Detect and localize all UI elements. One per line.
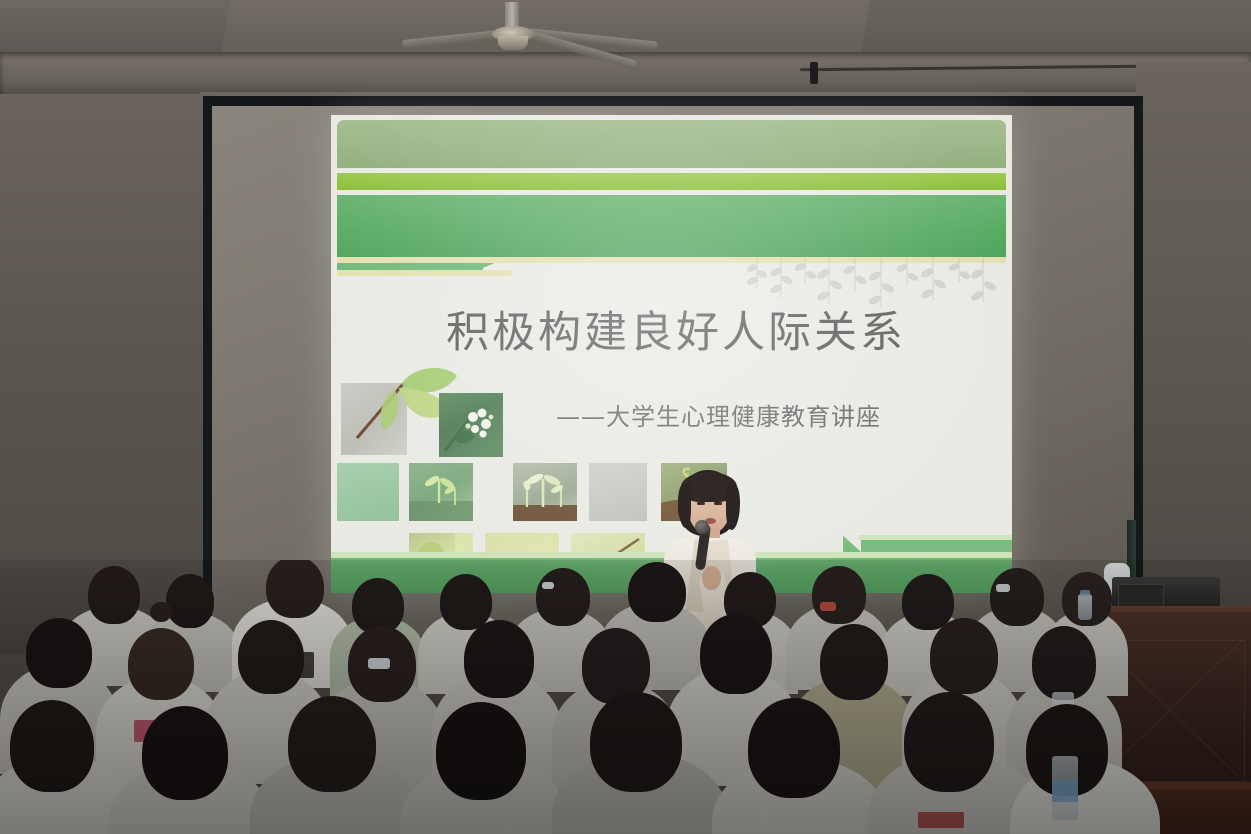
- audience-member: [590, 692, 682, 792]
- presenter-eye-left: [697, 502, 705, 505]
- hair-clip: [542, 582, 554, 589]
- footer-step-light-edge: [859, 535, 1012, 540]
- presenter-hair-side-left: [678, 484, 691, 528]
- hair-clip: [368, 658, 390, 669]
- slide-photo-sprouts-in-soil: [513, 463, 577, 521]
- audience: [0, 560, 1251, 834]
- audience-member: [266, 560, 324, 618]
- audience-member: [930, 618, 998, 694]
- presenter-hair-side-right: [726, 484, 740, 530]
- header-band-top: [337, 120, 1006, 168]
- water-bottle: [1078, 594, 1092, 620]
- ceiling-fan-motor: [498, 36, 528, 50]
- header-band-stripe: [337, 173, 1006, 190]
- audience-member: [166, 574, 214, 628]
- audience-member: [238, 620, 304, 694]
- slide-photo-white-flowers: [439, 393, 503, 457]
- audience-member: [812, 566, 866, 624]
- seedling-illustration-icon: [409, 463, 473, 521]
- audience-member: [464, 620, 534, 698]
- lecture-hall-scene: 积极构建良好人际关系 ——大学生心理健康教育讲座: [0, 0, 1251, 834]
- header-band-main: [337, 195, 1006, 257]
- audience-member: [288, 696, 376, 792]
- audience-member: [700, 614, 772, 694]
- slide-header: [337, 120, 1006, 260]
- slide-subtitle: ——大学生心理健康教育讲座: [556, 397, 956, 432]
- audience-member: [902, 574, 954, 630]
- audience-member: [142, 706, 228, 800]
- audience-member: [1032, 626, 1096, 700]
- hair-bun: [150, 602, 172, 622]
- audience-member: [904, 692, 994, 792]
- wire-drop: [810, 62, 818, 84]
- presenter-eye-right: [714, 502, 722, 505]
- shirt-graphic: [918, 812, 964, 828]
- sprout-illustration-icon: [513, 463, 577, 521]
- audience-member: [820, 624, 888, 700]
- audience-member: [128, 628, 194, 700]
- audience-member: [26, 618, 92, 688]
- audience-member: [440, 574, 492, 630]
- audience-member: [88, 566, 140, 624]
- hair-clip: [820, 602, 836, 611]
- ceiling-fan-rod: [505, 2, 519, 28]
- audience-member: [536, 568, 590, 626]
- header-accent-line-lower: [337, 270, 512, 276]
- flower-illustration-icon: [439, 393, 503, 457]
- audience-member: [436, 702, 526, 800]
- hair-clip: [996, 584, 1010, 592]
- audience-member: [990, 568, 1044, 626]
- slide-photo-gray-placeholder: [589, 463, 647, 521]
- audience-member: [748, 698, 840, 798]
- slide-photo-leaf-on-branch: [341, 383, 407, 455]
- bottle-cap: [1080, 590, 1090, 596]
- microphone-head-icon: [695, 520, 709, 534]
- slide-title: 积极构建良好人际关系: [391, 298, 961, 360]
- audience-member: [628, 562, 686, 622]
- slide-photo-moss-seedlings: [409, 463, 473, 521]
- bottle-label: [1052, 780, 1078, 802]
- audience-member: [10, 700, 94, 792]
- slide-photo-green-swatch: [337, 463, 399, 521]
